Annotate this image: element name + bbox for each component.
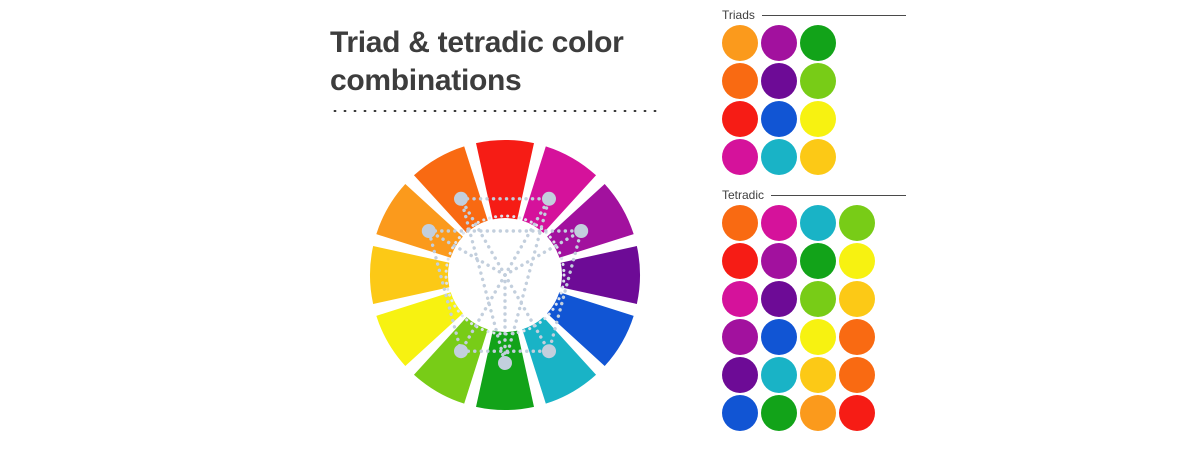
triads-rule	[762, 15, 906, 16]
tetradic-row-4	[722, 319, 906, 355]
title-dotted-underline	[330, 106, 659, 112]
wheel-segment-amber[interactable]	[370, 246, 449, 304]
tetradic-swatch[interactable]	[839, 205, 875, 241]
triad-row-3	[722, 101, 906, 137]
tetradic-row-3	[722, 281, 906, 317]
tetrad-marker-cyan[interactable]	[542, 344, 556, 358]
tetradic-swatch[interactable]	[761, 243, 797, 279]
tetradic-swatch[interactable]	[722, 395, 758, 431]
triad-swatch[interactable]	[722, 101, 758, 137]
tetradic-swatch[interactable]	[800, 319, 836, 355]
tetradic-row-2	[722, 243, 906, 279]
triads-swatch-grid	[722, 25, 906, 175]
triad-swatch[interactable]	[800, 25, 836, 61]
triad-swatch[interactable]	[722, 25, 758, 61]
wheel-segment-red[interactable]	[476, 140, 534, 219]
triad-row-1	[722, 25, 906, 61]
triads-header: Triads	[722, 8, 906, 22]
tetradic-swatch[interactable]	[761, 281, 797, 317]
tetradic-swatch[interactable]	[722, 319, 758, 355]
tetradic-row-6	[722, 395, 906, 431]
page-title: Triad & tetradic color combinations	[330, 24, 680, 100]
color-wheel	[355, 125, 655, 425]
tetradic-row-1	[722, 205, 906, 241]
triads-panel: Triads	[722, 8, 906, 177]
tetradic-header: Tetradic	[722, 188, 906, 202]
triad-swatch[interactable]	[761, 25, 797, 61]
tetradic-swatch[interactable]	[761, 357, 797, 393]
triad-swatch[interactable]	[800, 139, 836, 175]
tetradic-swatch[interactable]	[800, 281, 836, 317]
tetradic-panel: Tetradic	[722, 188, 906, 433]
wheel-segment-green[interactable]	[476, 331, 534, 410]
title-block: Triad & tetradic color combinations	[330, 24, 680, 112]
tetradic-swatch[interactable]	[722, 205, 758, 241]
tetradic-swatch-grid	[722, 205, 906, 431]
tetradic-swatch[interactable]	[839, 357, 875, 393]
color-wheel-svg	[355, 125, 655, 425]
triad-swatch[interactable]	[800, 101, 836, 137]
tetradic-row-5	[722, 357, 906, 393]
tetradic-swatch[interactable]	[839, 395, 875, 431]
tetradic-swatch[interactable]	[722, 243, 758, 279]
tetrad-marker-yellow-green[interactable]	[454, 344, 468, 358]
triad-swatch[interactable]	[761, 63, 797, 99]
triad-marker-magenta[interactable]	[542, 192, 556, 206]
tetradic-swatch[interactable]	[839, 243, 875, 279]
tetradic-swatch[interactable]	[722, 281, 758, 317]
triad-swatch[interactable]	[722, 63, 758, 99]
tetradic-swatch[interactable]	[839, 281, 875, 317]
triad-row-2	[722, 63, 906, 99]
tetradic-swatch[interactable]	[839, 319, 875, 355]
tetradic-swatch[interactable]	[761, 395, 797, 431]
tetradic-rule	[771, 195, 906, 196]
tetrad-marker-purple[interactable]	[574, 224, 588, 238]
triad-swatch[interactable]	[722, 139, 758, 175]
triad-marker-green[interactable]	[498, 356, 512, 370]
triad-row-4	[722, 139, 906, 175]
tetradic-swatch[interactable]	[800, 357, 836, 393]
wheel-segment-violet[interactable]	[561, 246, 640, 304]
tetradic-swatch[interactable]	[761, 319, 797, 355]
triad-marker-orange[interactable]	[454, 192, 468, 206]
tetradic-swatch[interactable]	[800, 243, 836, 279]
triad-swatch[interactable]	[761, 139, 797, 175]
triad-swatch[interactable]	[800, 63, 836, 99]
triad-swatch[interactable]	[761, 101, 797, 137]
tetradic-swatch[interactable]	[761, 205, 797, 241]
tetradic-title: Tetradic	[722, 188, 771, 202]
triads-title: Triads	[722, 8, 762, 22]
tetradic-swatch[interactable]	[800, 395, 836, 431]
tetradic-swatch[interactable]	[800, 205, 836, 241]
tetradic-swatch[interactable]	[722, 357, 758, 393]
tetrad-marker-amber-orange[interactable]	[422, 224, 436, 238]
